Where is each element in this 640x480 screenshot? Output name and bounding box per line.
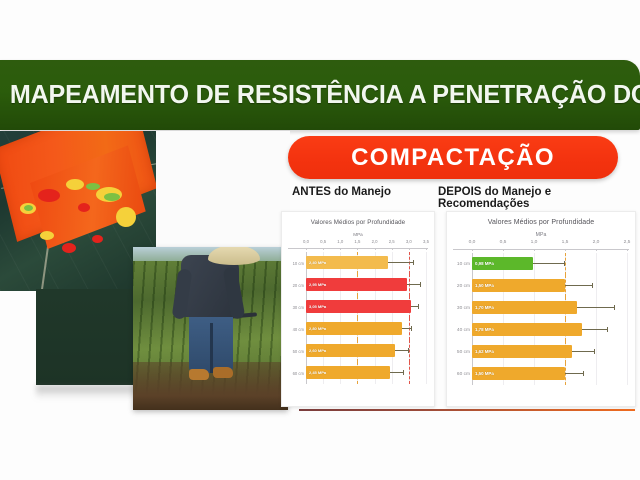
bar-row: 40 cm2,80 MPa xyxy=(288,318,428,340)
heatmap-blob-green xyxy=(24,205,33,211)
gridline xyxy=(627,319,628,341)
bar[interactable]: 1,50 MPa xyxy=(472,279,565,292)
bar-value-label: 1,50 MPa xyxy=(472,283,494,288)
background-patch xyxy=(156,131,290,247)
bar-value-label: 0,98 MPa xyxy=(472,261,494,266)
gridline xyxy=(596,341,597,363)
x-axis xyxy=(453,249,629,250)
bar-value-label: 2,60 MPa xyxy=(306,348,326,353)
bar-value-label: 1,70 MPa xyxy=(472,305,494,310)
footer-underline xyxy=(299,409,635,411)
heatmap-blob-red xyxy=(62,243,76,253)
bar-track: 1,78 MPa xyxy=(472,319,627,341)
depth-label: 30 cm xyxy=(288,305,304,310)
compactacao-label: COMPACTAÇÃO xyxy=(351,144,555,172)
heatmap-blob-yellow xyxy=(116,207,136,227)
subtitle-depois: DEPOIS do Manejo e Recomendações xyxy=(438,186,636,210)
photo-boot xyxy=(213,367,233,378)
gridline xyxy=(426,362,427,384)
bar-track: 0,98 MPa xyxy=(472,253,627,275)
gridline xyxy=(627,253,628,275)
gridline xyxy=(534,253,535,275)
bar[interactable]: 1,50 MPa xyxy=(472,367,565,380)
x-tick-label: 2,5 xyxy=(389,239,395,244)
bar-track: 1,62 MPa xyxy=(472,341,627,363)
gridline xyxy=(596,363,597,385)
bar[interactable]: 2,40 MPa xyxy=(306,256,388,269)
depth-label: 20 cm xyxy=(453,284,470,289)
bar-row: 30 cm1,70 MPa xyxy=(453,297,629,319)
plot-area: 0,00,51,01,52,02,53,03,5 10 cm2,40 MPa20… xyxy=(288,239,428,384)
bar-track: 2,95 MPa xyxy=(306,274,426,296)
x-tick-label: 1,0 xyxy=(531,240,538,245)
photo-boot xyxy=(189,369,209,380)
bar[interactable]: 2,95 MPa xyxy=(306,278,407,291)
threshold-line xyxy=(409,340,410,362)
title-banner: MAPEAMENTO DE RESISTÊNCIA A PENETRAÇÃO D… xyxy=(0,60,640,130)
x-tick-label: 3,5 xyxy=(423,239,429,244)
heatmap-blob-yellow xyxy=(40,231,54,240)
depth-label: 20 cm xyxy=(288,283,304,288)
x-tick-label: 0,0 xyxy=(303,239,309,244)
bar-value-label: 2,80 MPa xyxy=(306,326,326,331)
x-tick-label: 2,0 xyxy=(372,239,378,244)
gridline xyxy=(596,319,597,341)
bar-row: 60 cm2,45 MPa xyxy=(288,362,428,384)
x-tick-label: 1,5 xyxy=(354,239,360,244)
bar-group: 10 cm2,40 MPa20 cm2,95 MPa30 cm3,05 MPa4… xyxy=(288,252,428,384)
x-tick-label: 1,0 xyxy=(337,239,343,244)
threshold-line xyxy=(565,275,566,297)
depth-label: 40 cm xyxy=(453,328,470,333)
x-axis xyxy=(288,248,428,249)
gridline xyxy=(392,362,393,384)
bar-value-label: 3,05 MPa xyxy=(306,304,326,309)
bar-track: 1,50 MPa xyxy=(472,363,627,385)
depth-label: 40 cm xyxy=(288,327,304,332)
photo-leg-split xyxy=(210,323,213,373)
bar-track: 1,50 MPa xyxy=(472,275,627,297)
chart-axis-unit: MPa xyxy=(282,232,434,237)
gridline xyxy=(426,296,427,318)
gridline xyxy=(627,363,628,385)
threshold-line xyxy=(409,318,410,340)
x-tick-label: 0,0 xyxy=(469,240,476,245)
x-tick-label: 2,0 xyxy=(593,240,600,245)
penetrometer-field-photo xyxy=(133,247,288,410)
bar-value-label: 1,62 MPa xyxy=(472,349,494,354)
bar[interactable]: 0,98 MPa xyxy=(472,257,533,270)
bar-value-label: 2,40 MPa xyxy=(306,260,326,265)
bar-group: 10 cm0,98 MPa20 cm1,50 MPa30 cm1,70 MPa4… xyxy=(453,253,629,385)
heatmap-blob-red xyxy=(38,189,60,202)
threshold-line xyxy=(409,252,410,274)
threshold-line xyxy=(409,362,410,384)
threshold-line xyxy=(409,274,410,296)
chart-title: Valores Médios por Profundidade xyxy=(282,219,434,226)
depth-label: 30 cm xyxy=(453,306,470,311)
photo-person-hat xyxy=(208,247,260,265)
gridline xyxy=(596,253,597,275)
x-tick-label: 0,5 xyxy=(320,239,326,244)
heatmap-blob-red xyxy=(92,235,103,243)
heatmap-blob-red xyxy=(78,203,90,212)
bar-value-label: 2,45 MPa xyxy=(306,370,326,375)
x-tick-labels: 0,00,51,01,52,02,53,03,5 xyxy=(288,239,428,247)
compactacao-button[interactable]: COMPACTAÇÃO xyxy=(288,136,618,179)
bar-track: 2,80 MPa xyxy=(306,318,426,340)
depth-label: 50 cm xyxy=(288,349,304,354)
gridline xyxy=(426,318,427,340)
bar-track: 3,05 MPa xyxy=(306,296,426,318)
gridline xyxy=(426,252,427,274)
bar[interactable]: 1,70 MPa xyxy=(472,301,577,314)
bar[interactable]: 1,62 MPa xyxy=(472,345,572,358)
plot-area: 0,00,51,01,52,02,5 10 cm0,98 MPa20 cm1,5… xyxy=(453,240,629,385)
depth-label: 10 cm xyxy=(288,261,304,266)
bar[interactable]: 2,45 MPa xyxy=(306,366,390,379)
gridline xyxy=(627,341,628,363)
x-tick-label: 1,5 xyxy=(562,240,569,245)
gridline xyxy=(596,275,597,297)
bar-row: 50 cm2,60 MPa xyxy=(288,340,428,362)
depth-label: 60 cm xyxy=(453,372,470,377)
bar-row: 30 cm3,05 MPa xyxy=(288,296,428,318)
heatmap-blob-green xyxy=(104,193,120,201)
bar-value-label: 1,78 MPa xyxy=(472,327,494,332)
heatmap-blob-green xyxy=(86,183,100,190)
gridline xyxy=(596,297,597,319)
chart-subtitles: ANTES do Manejo DEPOIS do Manejo e Recom… xyxy=(288,186,636,200)
gridline xyxy=(426,340,427,362)
bar-row: 40 cm1,78 MPa xyxy=(453,319,629,341)
bar-row: 20 cm2,95 MPa xyxy=(288,274,428,296)
bar-row: 10 cm2,40 MPa xyxy=(288,252,428,274)
gridline xyxy=(627,275,628,297)
threshold-line xyxy=(565,253,566,275)
bar-value-label: 2,95 MPa xyxy=(306,282,326,287)
bar-row: 10 cm0,98 MPa xyxy=(453,253,629,275)
chart-antes: Valores Médios por Profundidade MPa 0,00… xyxy=(281,211,435,407)
subtitle-antes: ANTES do Manejo xyxy=(292,186,391,198)
x-tick-label: 2,5 xyxy=(624,240,631,245)
depth-label: 10 cm xyxy=(453,262,470,267)
bar-row: 60 cm1,50 MPa xyxy=(453,363,629,385)
threshold-line xyxy=(565,363,566,385)
bar[interactable]: 2,60 MPa xyxy=(306,344,395,357)
bar-track: 2,60 MPa xyxy=(306,340,426,362)
bar-track: 1,70 MPa xyxy=(472,297,627,319)
bar-row: 20 cm1,50 MPa xyxy=(453,275,629,297)
page-title: MAPEAMENTO DE RESISTÊNCIA A PENETRAÇÃO D… xyxy=(0,81,640,110)
bar[interactable]: 1,78 MPa xyxy=(472,323,582,336)
x-tick-label: 3,0 xyxy=(406,239,412,244)
bar-value-label: 1,50 MPa xyxy=(472,371,494,376)
bar[interactable]: 2,80 MPa xyxy=(306,322,402,335)
gridline xyxy=(627,297,628,319)
bar-track: 2,45 MPa xyxy=(306,362,426,384)
chart-title: Valores Médios por Profundidade xyxy=(447,219,635,226)
bar-track: 2,40 MPa xyxy=(306,252,426,274)
bar[interactable]: 3,05 MPa xyxy=(306,300,411,313)
x-tick-label: 0,5 xyxy=(500,240,507,245)
heatmap-blob-yellow xyxy=(66,179,84,190)
x-tick-labels: 0,00,51,01,52,02,5 xyxy=(453,240,629,248)
bar-row: 50 cm1,62 MPa xyxy=(453,341,629,363)
chart-axis-unit: MPa xyxy=(447,232,635,238)
chart-depois: Valores Médios por Profundidade MPa 0,00… xyxy=(446,211,636,407)
gridline xyxy=(392,252,393,274)
gridline xyxy=(426,274,427,296)
slide-canvas: MAPEAMENTO DE RESISTÊNCIA A PENETRAÇÃO D… xyxy=(0,0,640,480)
depth-label: 60 cm xyxy=(288,371,304,376)
depth-label: 50 cm xyxy=(453,350,470,355)
